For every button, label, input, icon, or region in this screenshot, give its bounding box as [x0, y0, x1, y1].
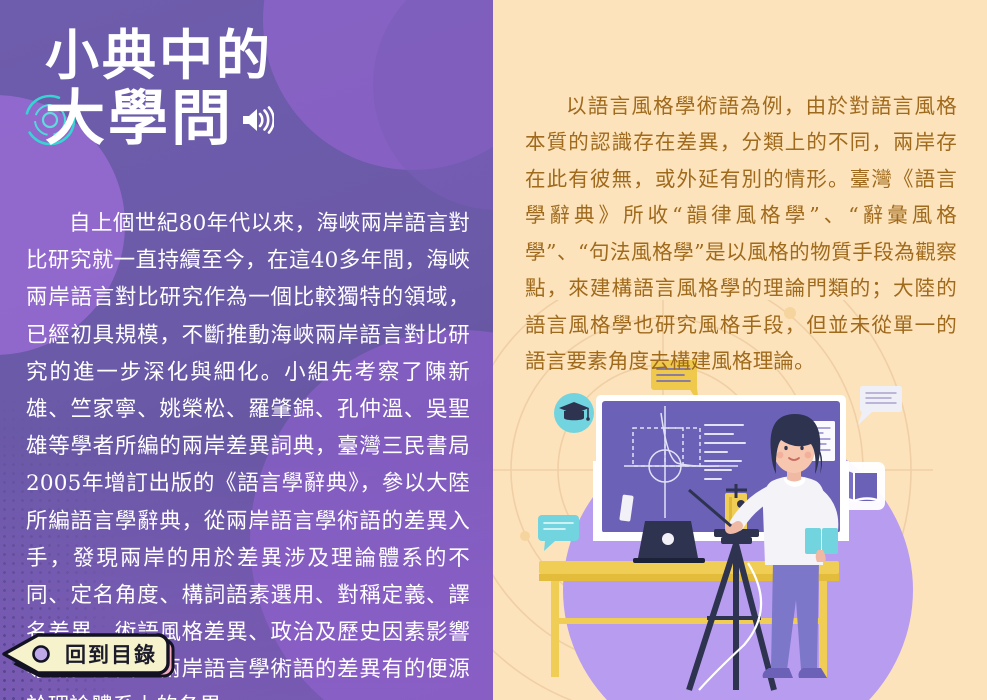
- page-title: 小典中的 大學問: [45, 28, 274, 150]
- right-body-paragraph: 以語言風格學術語為例，由於對語言風格本質的認識存在差異，分類上的不同，兩岸存在此…: [525, 88, 957, 380]
- tag-shape: [0, 630, 182, 678]
- right-panel: 以語言風格學術語為例，由於對語言風格本質的認識存在差異，分類上的不同，兩岸存在此…: [493, 0, 987, 700]
- left-body-paragraph: 自上個世紀80年代以來，海峽兩岸語言對比研究就一直持續至今，在這40多年間，海峽…: [26, 205, 470, 700]
- grey-speech-bubble: [858, 386, 902, 425]
- title-line-2: 大學問: [45, 84, 234, 154]
- title-line-1: 小典中的: [45, 28, 274, 83]
- title-line-2-wrap: 大學問: [45, 89, 274, 150]
- left-panel: 小典中的 大學問 自上個世紀80年代以來，海峽兩岸語言對比研究就一直持續至今，在…: [0, 0, 493, 700]
- graduation-cap-icon: [554, 393, 594, 433]
- decorative-blob-top-right-2: [373, 0, 493, 210]
- slide-page: 小典中的 大學問 自上個世紀80年代以來，海峽兩岸語言對比研究就一直持續至今，在…: [0, 0, 987, 700]
- speaker-volume-icon[interactable]: [240, 85, 274, 146]
- back-to-contents-button[interactable]: 回到目錄: [0, 630, 182, 678]
